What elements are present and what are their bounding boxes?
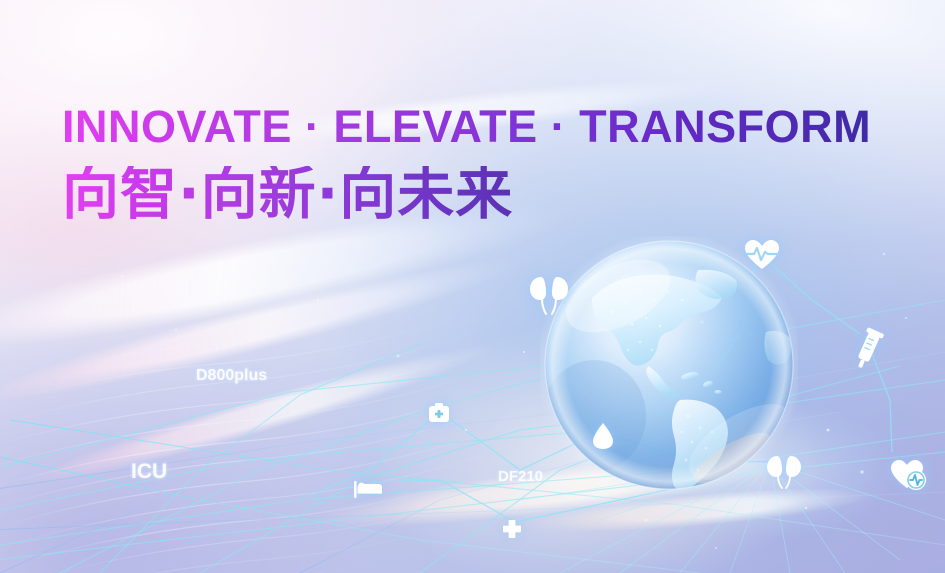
medical-kit-icon (428, 402, 450, 428)
medical-cross-icon (502, 519, 522, 544)
background-wash-bottom-left (0, 0, 945, 573)
background-wash-bottom-right (0, 0, 945, 573)
hospital-bed-icon (353, 479, 383, 504)
light-ribbon-4 (168, 325, 945, 573)
wave-texture (0, 239, 584, 573)
hero-banner: INNOVATE · ELEVATE · TRANSFORM 向智·向新·向未来… (0, 0, 945, 573)
product-label-icu: ICU (131, 460, 167, 484)
blood-drop-icon (592, 422, 614, 455)
kidneys-icon (527, 274, 571, 321)
syringe-icon (851, 325, 885, 378)
background-wash-top-right (0, 0, 945, 573)
product-label-d800plus: D800plus (196, 367, 267, 385)
page-subtitle: 向智·向新·向未来 (62, 166, 513, 223)
light-ribbon-3 (0, 200, 657, 573)
background-glow-center (0, 0, 945, 573)
background-wash-center-blue (0, 0, 945, 573)
network-lines-layer (0, 0, 945, 573)
kidneys-icon (765, 454, 803, 495)
background-wash-pink (0, 0, 945, 573)
crystal-globe (540, 236, 798, 494)
background-wash-top-left (0, 0, 945, 573)
light-ribbon-5 (413, 396, 945, 573)
product-label-df210: DF210 (498, 468, 543, 485)
page-title: INNOVATE · ELEVATE · TRANSFORM (62, 104, 871, 149)
heart-monitor-icon (890, 458, 928, 497)
heart-pulse-icon (744, 239, 780, 276)
